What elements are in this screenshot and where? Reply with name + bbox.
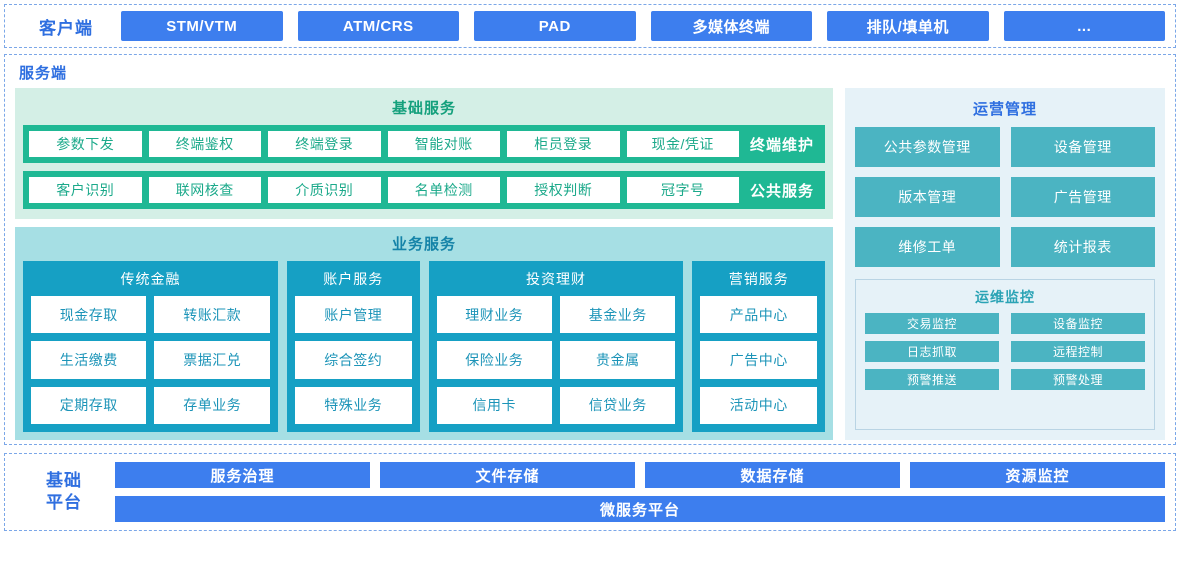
table-row: 定期存取 存单业务 [31,387,270,424]
platform-file-storage[interactable]: 文件存储 [380,462,635,488]
cell-teller-login[interactable]: 柜员登录 [507,131,620,157]
platform-title-line1: 基础 [13,470,115,492]
investment-wealth-rows: 理财业务 基金业务 保险业务 贵金属 信用卡 信贷业务 [437,296,676,424]
operations-monitoring-title: 运维监控 [865,283,1145,313]
cell-fund-business[interactable]: 基金业务 [560,296,675,333]
cell-precious-metals[interactable]: 贵金属 [560,341,675,378]
client-item-more[interactable]: ... [1004,11,1166,41]
platform-layer-title: 基础 平台 [13,470,115,514]
platform-top-row: 服务治理 文件存储 数据存储 资源监控 [115,462,1165,488]
basic-services-title: 基础服务 [23,92,825,125]
cell-media-recognition[interactable]: 介质识别 [268,177,381,203]
table-row: 版本管理 广告管理 [855,177,1155,217]
cell-smart-reconciliation[interactable]: 智能对账 [388,131,501,157]
mon-alert-handling[interactable]: 预警处理 [1011,369,1145,390]
cell-bill-exchange[interactable]: 票据汇兑 [154,341,269,378]
platform-title-line2: 平台 [13,492,115,514]
client-item-queue-form-machine[interactable]: 排队/填单机 [827,11,989,41]
terminal-maintenance-cells: 参数下发 终端鉴权 终端登录 智能对账 柜员登录 现金/凭证 [29,131,739,157]
ops-statistical-report[interactable]: 统计报表 [1011,227,1156,267]
cell-customer-identification[interactable]: 客户识别 [29,177,142,203]
cell-serial-number[interactable]: 冠字号 [627,177,740,203]
cell-transfer-remittance[interactable]: 转账汇款 [154,296,269,333]
mon-log-capture[interactable]: 日志抓取 [865,341,999,362]
public-service-cells: 客户识别 联网核查 介质识别 名单检测 授权判断 冠字号 [29,177,739,203]
table-row: 综合签约 [295,341,412,378]
traditional-finance-rows: 现金存取 转账汇款 生活缴费 票据汇兑 定期存取 存单业务 [31,296,270,424]
server-columns: 基础服务 参数下发 终端鉴权 终端登录 智能对账 柜员登录 现金/凭证 终端维护 [15,88,1165,440]
business-column-title-investment-wealth: 投资理财 [437,265,676,296]
table-row: 产品中心 [700,296,817,333]
table-row: 交易监控 设备监控 [865,313,1145,334]
platform-resource-monitoring[interactable]: 资源监控 [910,462,1165,488]
business-column-investment-wealth: 投资理财 理财业务 基金业务 保险业务 贵金属 [429,261,684,432]
cell-wealth-management[interactable]: 理财业务 [437,296,552,333]
ops-device-management[interactable]: 设备管理 [1011,127,1156,167]
operations-management-title: 运营管理 [855,92,1155,127]
table-row: 维修工单 统计报表 [855,227,1155,267]
server-layer-title: 服务端 [19,62,1165,83]
client-item-atm-crs[interactable]: ATM/CRS [298,11,460,41]
operations-buttons-grid: 公共参数管理 设备管理 版本管理 广告管理 维修工单 统计报表 [855,127,1155,267]
business-column-title-account-service: 账户服务 [295,265,412,296]
cell-living-payment[interactable]: 生活缴费 [31,341,146,378]
mon-device-monitoring[interactable]: 设备监控 [1011,313,1145,334]
cell-certificate-deposit-business[interactable]: 存单业务 [154,387,269,424]
platform-items: 服务治理 文件存储 数据存储 资源监控 微服务平台 [115,462,1167,522]
basic-services-row-public-service: 客户识别 联网核查 介质识别 名单检测 授权判断 冠字号 公共服务 [23,171,825,209]
platform-data-storage[interactable]: 数据存储 [645,462,900,488]
table-row: 生活缴费 票据汇兑 [31,341,270,378]
cell-comprehensive-signing[interactable]: 综合签约 [295,341,412,378]
ops-repair-work-order[interactable]: 维修工单 [855,227,1000,267]
ops-advertising-management[interactable]: 广告管理 [1011,177,1156,217]
cell-activity-center[interactable]: 活动中心 [700,387,817,424]
business-column-title-traditional-finance: 传统金融 [31,265,270,296]
table-row: 信用卡 信贷业务 [437,387,676,424]
client-layer-title: 客户端 [11,14,121,39]
cell-cash-voucher[interactable]: 现金/凭证 [627,131,740,157]
client-layer: 客户端 STM/VTM ATM/CRS PAD 多媒体终端 排队/填单机 ... [4,4,1176,48]
ops-public-parameter-management[interactable]: 公共参数管理 [855,127,1000,167]
business-services-title: 业务服务 [23,227,825,261]
platform-microservice-platform[interactable]: 微服务平台 [115,496,1165,522]
mon-transaction-monitoring[interactable]: 交易监控 [865,313,999,334]
basic-services-panel: 基础服务 参数下发 终端鉴权 终端登录 智能对账 柜员登录 现金/凭证 终端维护 [15,88,833,219]
business-column-traditional-finance: 传统金融 现金存取 转账汇款 生活缴费 票据汇兑 [23,261,278,432]
business-services-columns: 传统金融 现金存取 转账汇款 生活缴费 票据汇兑 [23,261,825,432]
row-label-terminal-maintenance: 终端维护 [739,134,825,155]
platform-layer: 基础 平台 服务治理 文件存储 数据存储 资源监控 微服务平台 [4,453,1176,531]
cell-terminal-login[interactable]: 终端登录 [268,131,381,157]
table-row: 公共参数管理 设备管理 [855,127,1155,167]
server-left-column: 基础服务 参数下发 终端鉴权 终端登录 智能对账 柜员登录 现金/凭证 终端维护 [15,88,833,440]
basic-services-row-terminal-maintenance: 参数下发 终端鉴权 终端登录 智能对账 柜员登录 现金/凭证 终端维护 [23,125,825,163]
cell-list-check[interactable]: 名单检测 [388,177,501,203]
server-layer: 服务端 基础服务 参数下发 终端鉴权 终端登录 智能对账 柜员登录 现金/凭证 [4,54,1176,445]
cell-advertising-center[interactable]: 广告中心 [700,341,817,378]
cell-terminal-auth[interactable]: 终端鉴权 [149,131,262,157]
business-column-account-service: 账户服务 账户管理 综合签约 特殊业务 [287,261,420,432]
row-label-public-service: 公共服务 [739,180,825,201]
client-items: STM/VTM ATM/CRS PAD 多媒体终端 排队/填单机 ... [121,11,1169,41]
client-item-multimedia-terminal[interactable]: 多媒体终端 [651,11,813,41]
account-service-rows: 账户管理 综合签约 特殊业务 [295,296,412,424]
platform-service-governance[interactable]: 服务治理 [115,462,370,488]
marketing-service-rows: 产品中心 广告中心 活动中心 [700,296,817,424]
cell-insurance-business[interactable]: 保险业务 [437,341,552,378]
table-row: 特殊业务 [295,387,412,424]
business-column-marketing-service: 营销服务 产品中心 广告中心 活动中心 [692,261,825,432]
table-row: 活动中心 [700,387,817,424]
table-row: 现金存取 转账汇款 [31,296,270,333]
cell-online-verification[interactable]: 联网核查 [149,177,262,203]
mon-remote-control[interactable]: 远程控制 [1011,341,1145,362]
table-row: 广告中心 [700,341,817,378]
architecture-diagram: 客户端 STM/VTM ATM/CRS PAD 多媒体终端 排队/填单机 ...… [0,4,1180,564]
cell-credit-business[interactable]: 信贷业务 [560,387,675,424]
cell-cash-deposit-withdraw[interactable]: 现金存取 [31,296,146,333]
cell-product-center[interactable]: 产品中心 [700,296,817,333]
client-item-pad[interactable]: PAD [474,11,636,41]
business-column-title-marketing-service: 营销服务 [700,265,817,296]
ops-version-management[interactable]: 版本管理 [855,177,1000,217]
client-item-stm-vtm[interactable]: STM/VTM [121,11,283,41]
table-row: 预警推送 预警处理 [865,369,1145,390]
cell-authorization-judgment[interactable]: 授权判断 [507,177,620,203]
cell-credit-card[interactable]: 信用卡 [437,387,552,424]
operations-monitoring-panel: 运维监控 交易监控 设备监控 日志抓取 远程控制 预警推送 预警处理 [855,279,1155,430]
cell-time-deposit[interactable]: 定期存取 [31,387,146,424]
table-row: 保险业务 贵金属 [437,341,676,378]
mon-alert-push[interactable]: 预警推送 [865,369,999,390]
cell-special-business[interactable]: 特殊业务 [295,387,412,424]
monitoring-buttons-grid: 交易监控 设备监控 日志抓取 远程控制 预警推送 预警处理 [865,313,1145,390]
cell-param-delivery[interactable]: 参数下发 [29,131,142,157]
business-services-panel: 业务服务 传统金融 现金存取 转账汇款 生活缴费 [15,227,833,440]
table-row: 理财业务 基金业务 [437,296,676,333]
table-row: 日志抓取 远程控制 [865,341,1145,362]
operations-management-panel: 运营管理 公共参数管理 设备管理 版本管理 广告管理 维修工单 统计报表 [845,88,1165,440]
cell-account-management[interactable]: 账户管理 [295,296,412,333]
table-row: 账户管理 [295,296,412,333]
